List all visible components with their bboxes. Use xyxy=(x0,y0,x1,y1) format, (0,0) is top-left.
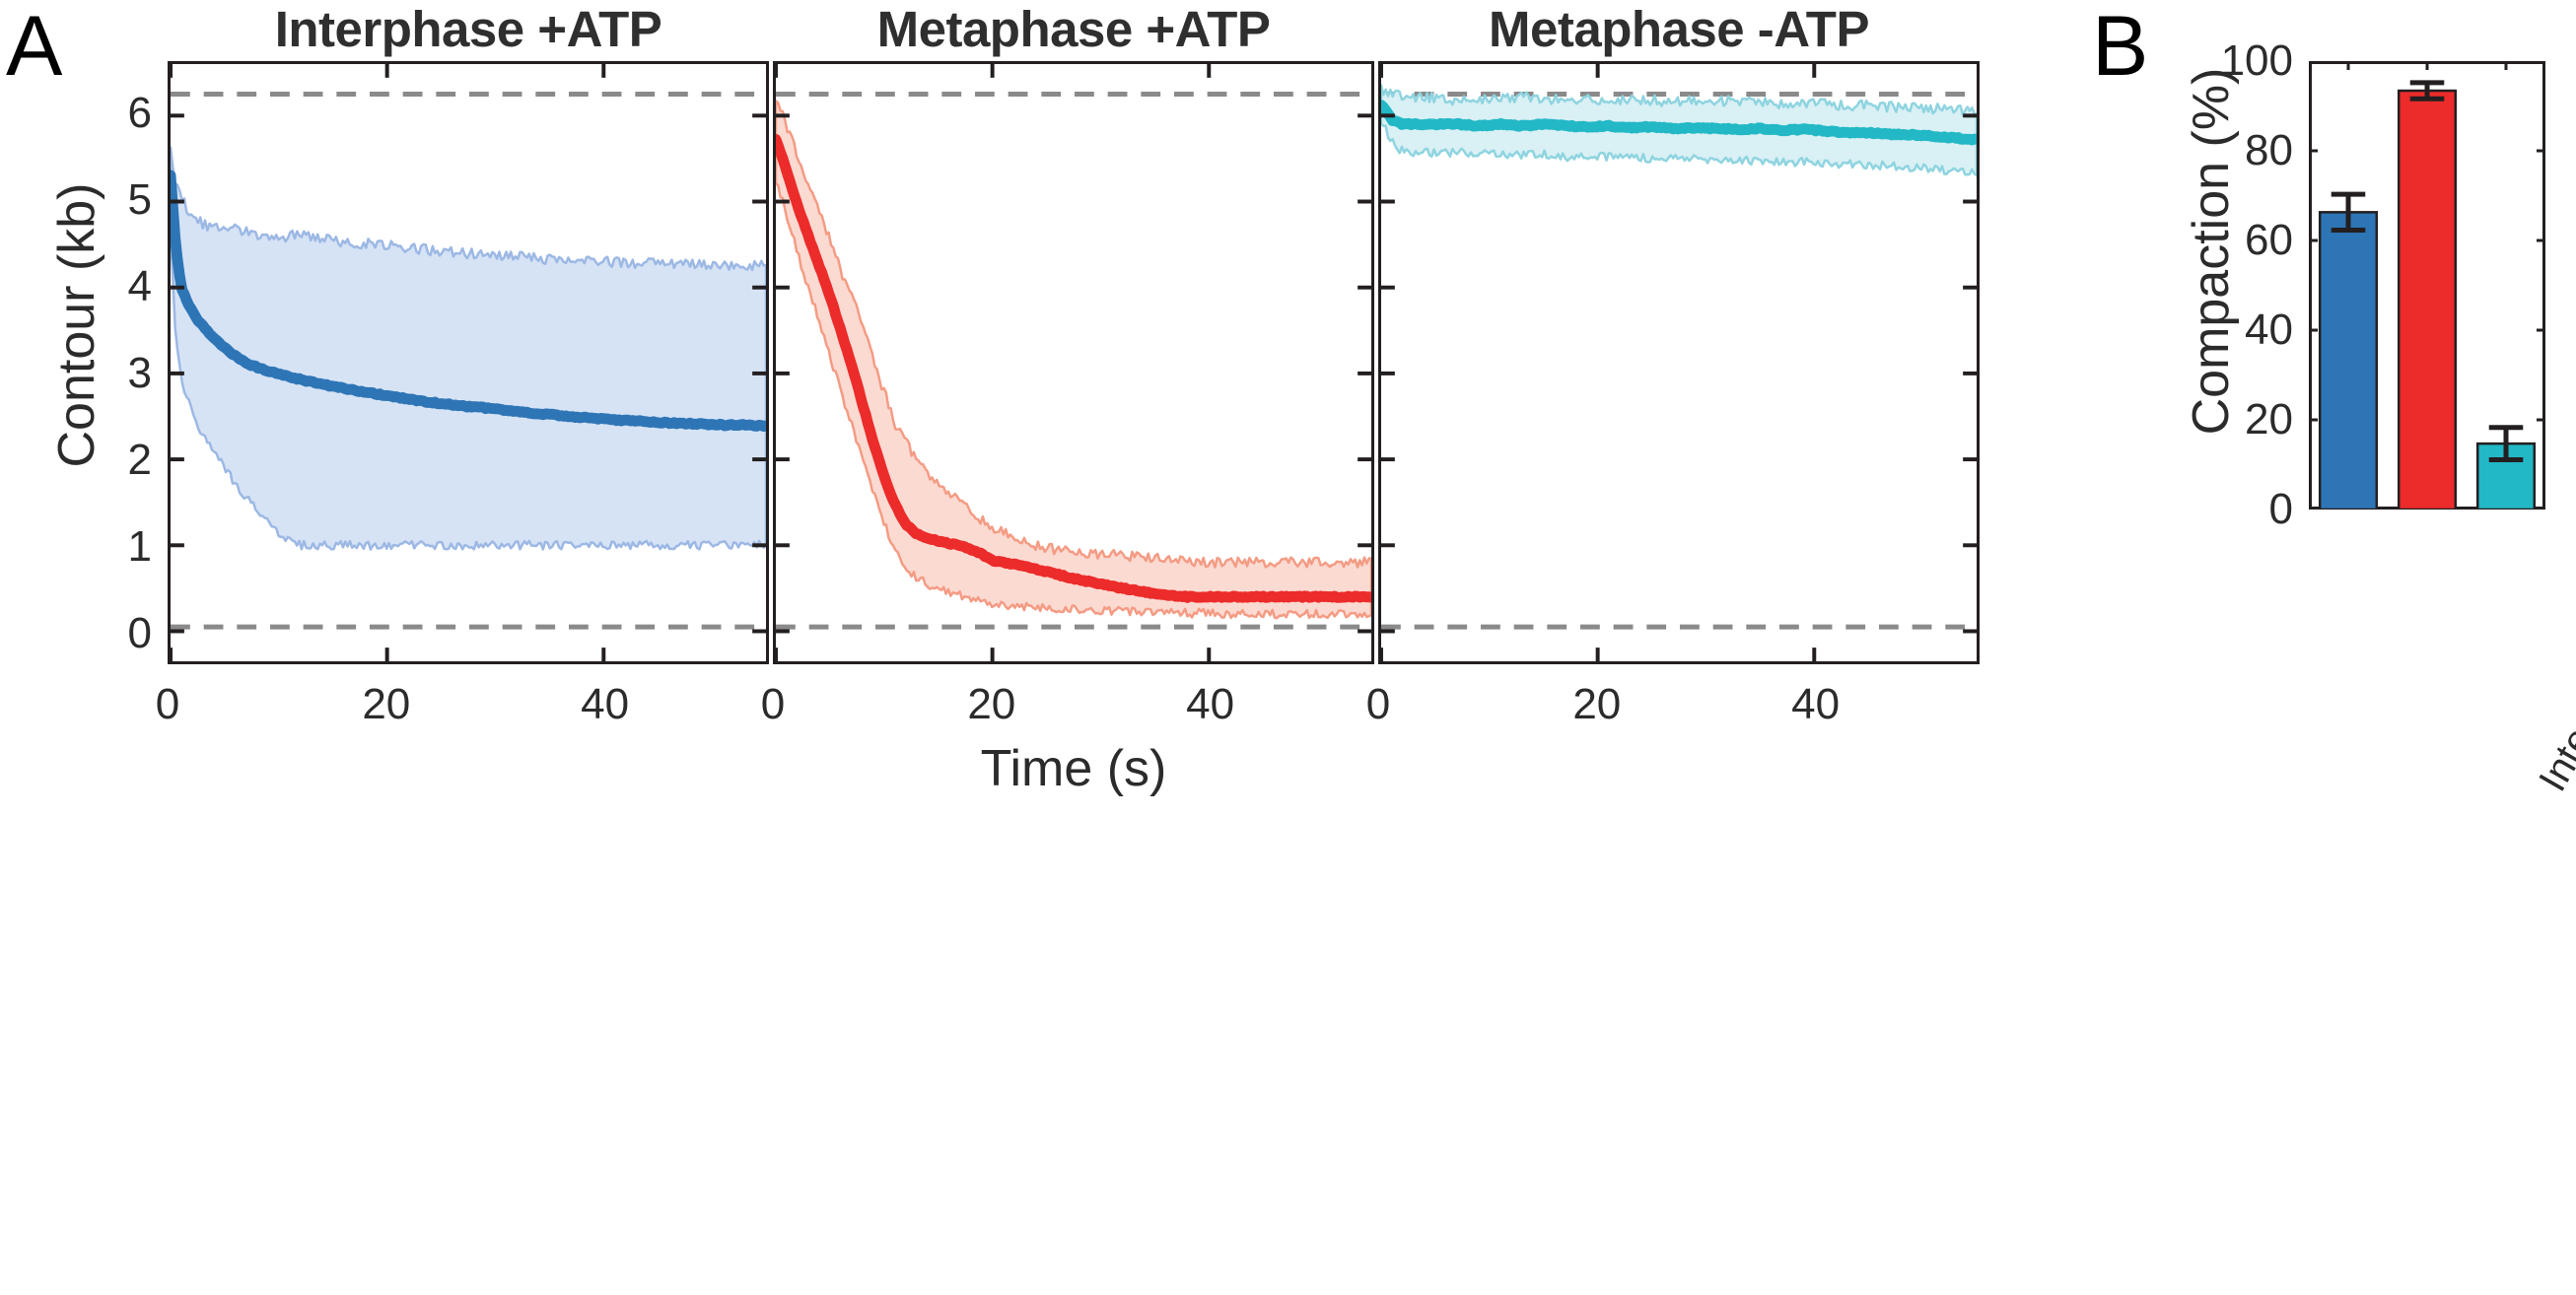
y-tick-label: 4 xyxy=(93,262,152,311)
subplot-title-metaphase-plus-atp: Metaphase +ATP xyxy=(773,0,1374,58)
subplot-1-frame xyxy=(168,61,769,664)
line-chart-interphase-atp xyxy=(171,64,766,661)
bar-y-tick-label: 20 xyxy=(2198,395,2293,444)
panel-b-y-tick-labels: 100806040200 xyxy=(2198,61,2301,510)
subplot-3-frame xyxy=(1378,61,1980,664)
panel-a: A Interphase +ATP Metaphase +ATP Metapha… xyxy=(0,0,2060,1295)
bar-y-tick-label: 0 xyxy=(2198,485,2293,534)
bar-y-tick-label: 100 xyxy=(2198,36,2293,86)
y-tick-label: 5 xyxy=(93,175,152,225)
bar-y-tick-label: 40 xyxy=(2198,306,2293,355)
x-tick-label: 40 xyxy=(1791,680,1840,729)
figure-root: A Interphase +ATP Metaphase +ATP Metapha… xyxy=(0,0,2576,1295)
panel-a-y-tick-labels: 6543210 xyxy=(91,61,152,664)
x-tick-label: 0 xyxy=(761,680,785,729)
subplot-metaphase-plus-atp xyxy=(773,61,1374,664)
subplot-interphase-atp xyxy=(168,61,769,664)
y-tick-label: 0 xyxy=(93,609,152,658)
x-tick-label: 20 xyxy=(967,680,1015,729)
subplot-1-x-tick-labels: 02040 xyxy=(168,680,769,739)
x-tick-label: 0 xyxy=(156,680,179,729)
subplot-3-x-tick-labels: 02040 xyxy=(1378,680,1980,739)
y-tick-label: 2 xyxy=(93,436,152,485)
panel-a-x-axis-title: Time (s) xyxy=(773,739,1374,798)
y-tick-label: 6 xyxy=(93,89,152,138)
x-tick-label: 40 xyxy=(1186,680,1234,729)
bar-chart-compaction xyxy=(2309,61,2545,510)
x-tick-label: 0 xyxy=(1366,680,1390,729)
x-tick-label: 20 xyxy=(1572,680,1621,729)
subplot-title-metaphase-minus-atp: Metaphase -ATP xyxy=(1378,0,1980,58)
y-tick-label: 3 xyxy=(93,349,152,398)
line-chart-metaphase-plus-atp xyxy=(776,64,1371,661)
panel-b-letter: B xyxy=(2092,4,2148,89)
subplot-metaphase-minus-atp xyxy=(1378,61,1980,664)
panel-b: B Compaction (%) 100806040200 Interphase… xyxy=(2060,0,2576,1295)
y-tick-label: 1 xyxy=(93,522,152,572)
bar-y-tick-label: 80 xyxy=(2198,126,2293,175)
panel-a-letter: A xyxy=(6,4,62,89)
x-tick-label: 40 xyxy=(581,680,629,729)
subplot-2-x-tick-labels: 02040 xyxy=(773,680,1374,739)
bar-category-label: Interphase +ATP xyxy=(2531,522,2576,799)
bar-chart-x-tick-labels: Interphase +ATPMetaphase +ATPMetaphase -… xyxy=(2309,516,2545,812)
bar-y-tick-label: 60 xyxy=(2198,216,2293,265)
line-chart-metaphase-minus-atp xyxy=(1381,64,1977,661)
subplot-title-interphase-atp: Interphase +ATP xyxy=(168,0,769,58)
subplot-2-frame xyxy=(773,61,1374,664)
x-tick-label: 20 xyxy=(362,680,410,729)
